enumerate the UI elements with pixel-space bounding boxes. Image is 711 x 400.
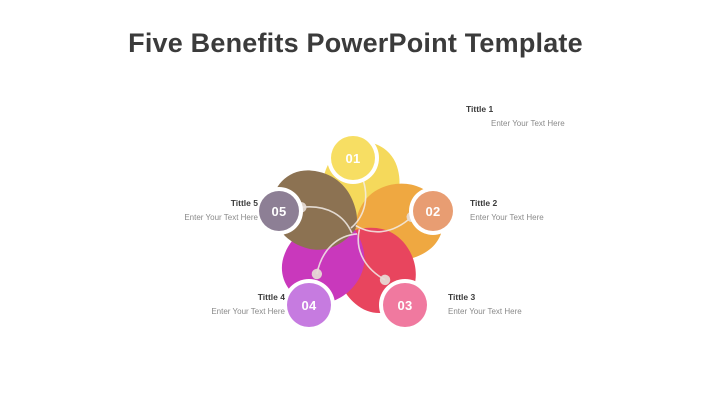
callout-2[interactable]: Tittle 2 Enter Your Text Here (470, 197, 650, 223)
callout-2-subtitle: Enter Your Text Here (470, 212, 650, 223)
number-badge-02[interactable]: 02 (413, 191, 453, 231)
callout-1-title: Tittle 1 (466, 103, 646, 115)
page-title: Five Benefits PowerPoint Template (0, 26, 711, 60)
callout-1[interactable]: Tittle 1 Enter Your Text Here (466, 103, 646, 129)
number-badge-05[interactable]: 05 (259, 191, 299, 231)
number-badge-01[interactable]: 01 (331, 136, 375, 180)
callout-1-subtitle: Enter Your Text Here (466, 118, 646, 129)
five-petal-diagram: 0102030405 (199, 100, 512, 360)
callout-3-title: Tittle 3 (448, 291, 628, 303)
number-badge-04[interactable]: 04 (287, 283, 331, 327)
callout-3-subtitle: Enter Your Text Here (448, 306, 628, 317)
callout-5-title: Tittle 5 (78, 197, 258, 209)
callout-5[interactable]: Tittle 5 Enter Your Text Here (78, 197, 258, 223)
callout-5-subtitle: Enter Your Text Here (78, 212, 258, 223)
callout-3[interactable]: Tittle 3 Enter Your Text Here (448, 291, 628, 317)
slide-canvas: Five Benefits PowerPoint Template 010203… (0, 0, 711, 400)
callout-2-title: Tittle 2 (470, 197, 650, 209)
number-badge-03[interactable]: 03 (383, 283, 427, 327)
callout-4[interactable]: Tittle 4 Enter Your Text Here (105, 291, 285, 317)
callout-4-title: Tittle 4 (105, 291, 285, 303)
callout-4-subtitle: Enter Your Text Here (105, 306, 285, 317)
